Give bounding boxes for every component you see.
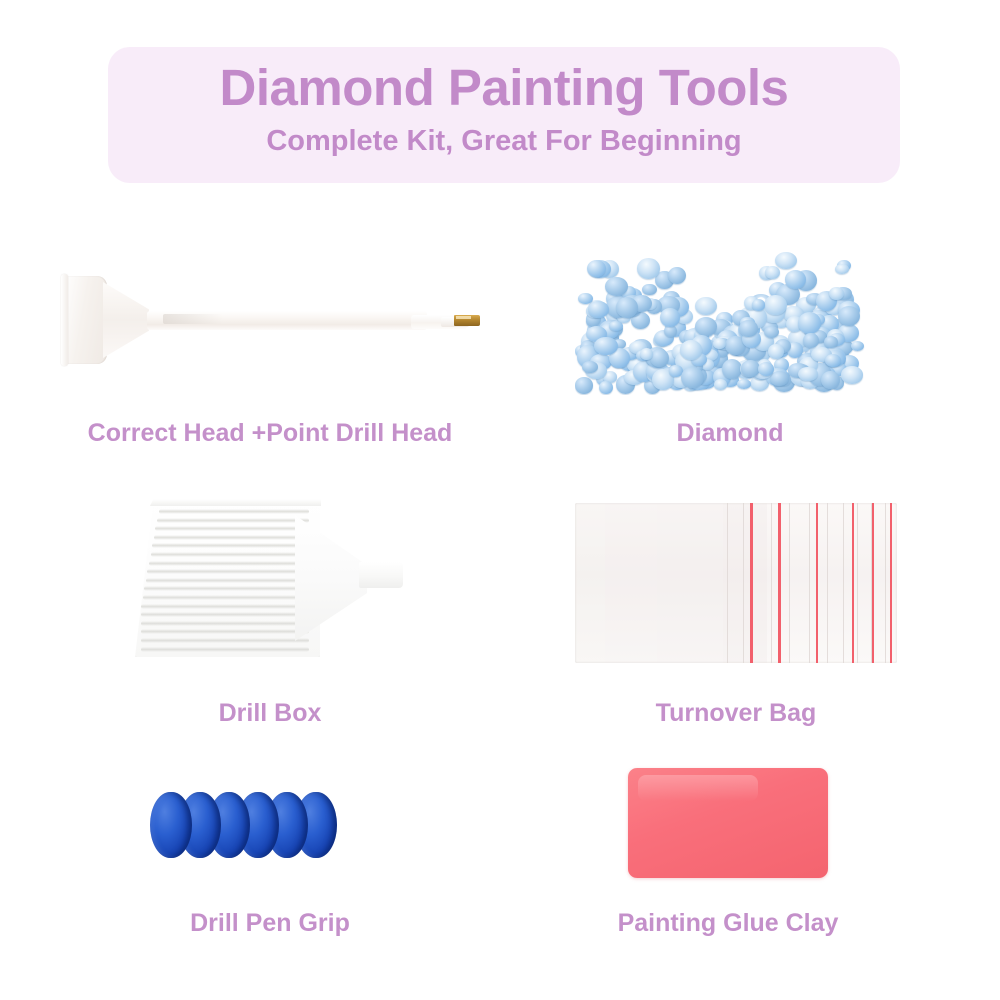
diamond-bead — [681, 367, 704, 388]
tray-groove — [141, 621, 309, 626]
tray-groove — [157, 518, 309, 523]
diamond-bead — [768, 344, 784, 359]
tray-groove — [159, 509, 309, 514]
diamond-bead — [821, 371, 840, 389]
drill-pen-image — [55, 270, 485, 380]
pen-printed-text — [163, 314, 223, 324]
diamond-bead — [851, 341, 864, 351]
diamond-bead — [722, 359, 742, 379]
diamond-bead — [599, 381, 612, 394]
label-diamond: Diamond — [600, 418, 860, 448]
tray-groove — [143, 595, 309, 600]
diamond-bead — [594, 337, 617, 355]
diamond-bead — [582, 361, 598, 373]
clay-highlight — [638, 775, 758, 801]
pen-funnel — [103, 282, 149, 358]
grip-segment — [150, 792, 192, 858]
diamond-bead — [668, 267, 686, 284]
diamond-beads-image — [575, 245, 865, 395]
diamond-bead — [642, 284, 657, 296]
tray-groove — [141, 604, 309, 609]
diamond-bead — [637, 258, 660, 279]
tray-neck — [295, 515, 367, 641]
diamond-bead — [775, 252, 797, 269]
bag-fold-line — [771, 503, 772, 663]
bag-fold-line — [809, 503, 810, 663]
tray-handle — [359, 562, 403, 588]
tray-groove — [144, 586, 309, 591]
label-correct-head-point-drill-head: Correct Head +Point Drill Head — [55, 418, 485, 448]
tray-groove — [146, 578, 309, 583]
pen-tip-highlight — [456, 316, 471, 319]
bag-fold-line — [843, 503, 844, 663]
diamond-bead — [605, 277, 627, 296]
diamond-bead — [609, 321, 623, 332]
diamond-bead — [713, 338, 726, 349]
painting-glue-clay-image — [628, 768, 828, 878]
bag-fold-line — [885, 503, 886, 663]
diamond-bead — [640, 348, 653, 361]
bag-zip-seal-line — [852, 503, 854, 663]
tray-groove — [147, 569, 309, 574]
tray-groove — [141, 612, 309, 617]
bag-zip-seal-line — [890, 503, 892, 663]
diamond-bead — [825, 354, 841, 366]
label-painting-glue-clay: Painting Glue Clay — [588, 908, 868, 938]
diamond-bead — [838, 306, 860, 326]
header-banner: Diamond Painting Tools Complete Kit, Gre… — [108, 47, 900, 183]
tray-lip — [135, 499, 321, 506]
bag-zip-seal-line — [872, 503, 874, 663]
product-infographic: Diamond Painting Tools Complete Kit, Gre… — [0, 0, 1000, 1000]
diamond-bead — [758, 362, 775, 376]
diamond-bead — [829, 287, 844, 300]
bag-fold-line — [789, 503, 790, 663]
bag-fold-line — [827, 503, 828, 663]
tray-groove — [151, 552, 309, 557]
bag-shade-panel — [605, 503, 657, 663]
page-subtitle: Complete Kit, Great For Beginning — [108, 121, 900, 161]
pen-head-edge — [61, 274, 68, 366]
diamond-bead — [835, 264, 849, 274]
bag-zip-seal-line — [778, 503, 781, 663]
turnover-bag-image — [575, 503, 897, 663]
diamond-bead — [765, 266, 780, 279]
bag-shade-panel — [657, 503, 723, 663]
bag-shade-panel — [575, 503, 605, 663]
bag-fold-line — [857, 503, 858, 663]
bag-zip-seal-line — [750, 503, 753, 663]
label-turnover-bag: Turnover Bag — [600, 698, 872, 728]
bag-shade-panel — [723, 503, 767, 663]
diamond-bead — [752, 299, 766, 311]
tray-groove — [141, 647, 309, 652]
drill-pen-grip-image — [150, 790, 350, 862]
label-drill-pen-grip: Drill Pen Grip — [135, 908, 405, 938]
tray-groove — [149, 561, 309, 566]
diamond-bead — [575, 377, 593, 393]
tray-groove — [154, 535, 309, 540]
tray-groove — [141, 638, 309, 643]
drill-box-image — [135, 495, 405, 660]
tray-groove — [155, 526, 309, 531]
diamond-bead — [650, 349, 669, 367]
diamond-bead — [695, 297, 717, 315]
bag-fold-line — [727, 503, 728, 663]
diamond-bead — [841, 366, 864, 384]
pen-correcting-head-icon — [63, 276, 107, 364]
diamond-bead — [785, 270, 806, 288]
diamond-bead — [660, 308, 680, 327]
diamond-bead — [737, 379, 751, 389]
label-drill-box: Drill Box — [135, 698, 405, 728]
bag-fold-line — [743, 503, 744, 663]
bag-zip-seal-line — [816, 503, 818, 663]
tray-groove — [152, 543, 309, 548]
page-title: Diamond Painting Tools — [108, 57, 900, 119]
diamond-bead — [714, 379, 728, 390]
tray-groove — [141, 629, 309, 634]
diamond-bead — [739, 320, 757, 337]
